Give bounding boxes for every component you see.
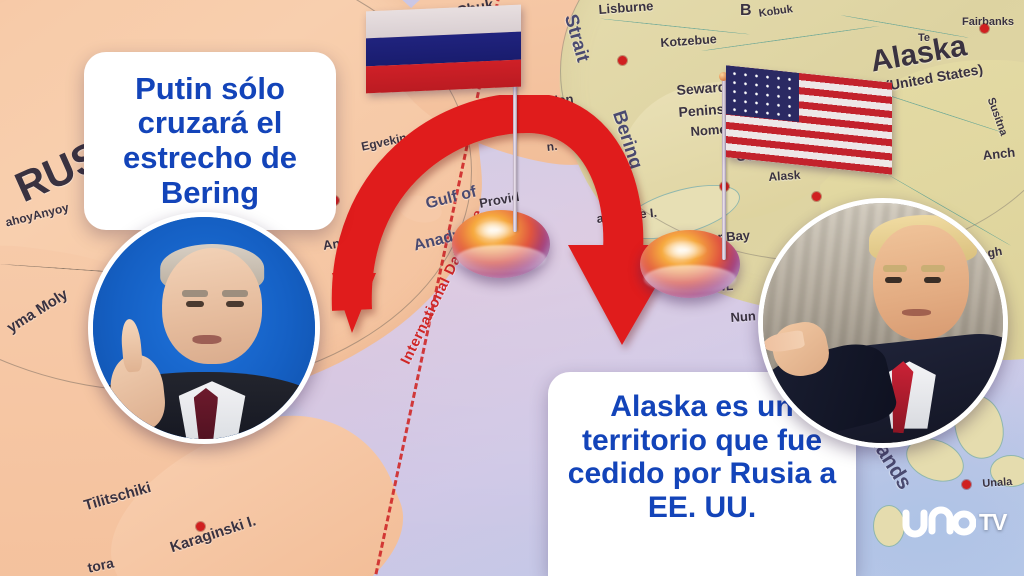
flag-russia bbox=[366, 5, 521, 94]
flag-usa bbox=[726, 65, 892, 174]
portrait-putin bbox=[88, 212, 320, 444]
map-place-label: Nun bbox=[730, 308, 756, 325]
city-dot bbox=[196, 522, 205, 531]
uno-logo-icon bbox=[900, 505, 976, 539]
city-dot bbox=[962, 480, 971, 489]
callout-text-putin: Putin sólo cruzará el estrecho de Bering bbox=[94, 72, 326, 211]
pin-base-russia bbox=[452, 210, 550, 278]
logo-tv-text: TV bbox=[979, 511, 1006, 534]
city-dot bbox=[980, 24, 989, 33]
map-place-label: Alask bbox=[768, 168, 801, 184]
map-place-label: B bbox=[740, 2, 752, 20]
city-dot bbox=[618, 56, 627, 65]
portrait-trump bbox=[758, 198, 1008, 448]
map-place-label: Unala bbox=[982, 476, 1013, 490]
callout-bubble-putin: Putin sólo cruzará el estrecho de Bering bbox=[84, 52, 336, 230]
infographic-canvas: International Date Line RUSAlaska(United… bbox=[0, 0, 1024, 576]
uno-tv-logo[interactable]: TV bbox=[900, 500, 1012, 544]
map-place-label: Te bbox=[918, 32, 930, 44]
city-dot bbox=[812, 192, 821, 201]
